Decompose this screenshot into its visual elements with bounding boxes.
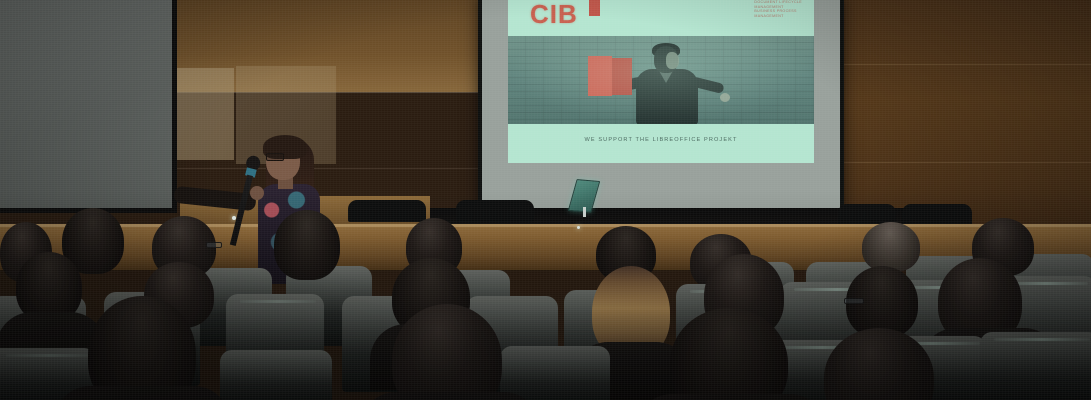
attendee-head-foreground xyxy=(88,296,196,400)
seat-highlight xyxy=(240,300,316,303)
auditorium-seat xyxy=(980,332,1091,400)
cib-logo-square-icon xyxy=(589,0,600,16)
attendee-glasses-icon xyxy=(206,242,222,248)
attendee-glasses-icon xyxy=(844,298,864,304)
wall-light-panel xyxy=(172,68,234,160)
attendee-shoulders xyxy=(54,386,230,400)
slide-corner-tagline: DOCUMENT LIFECYCLE MANAGEMENT BUSINESS P… xyxy=(754,0,802,18)
attendee-shoulders xyxy=(636,394,826,400)
seated-audience xyxy=(0,200,1091,400)
attendee-shoulders xyxy=(360,392,540,400)
presenter-glasses-icon xyxy=(266,153,284,161)
projector-haze xyxy=(508,36,814,124)
slide-footer: WE SUPPORT THE LIBREOFFICE PROJEKT xyxy=(508,124,814,163)
presenter-hand xyxy=(250,186,264,200)
presentation-photo: CIB DOCUMENT LIFECYCLE MANAGEMENT BUSINE… xyxy=(0,0,1091,400)
projected-slide: CIB DOCUMENT LIFECYCLE MANAGEMENT BUSINE… xyxy=(508,0,814,163)
auditorium-seat xyxy=(500,346,610,400)
slide-photo xyxy=(508,36,814,124)
slide-caption: WE SUPPORT THE LIBREOFFICE PROJEKT xyxy=(508,137,814,143)
main-projection-screen: CIB DOCUMENT LIFECYCLE MANAGEMENT BUSINE… xyxy=(478,0,844,220)
blank-projection-screen xyxy=(0,0,177,213)
seat-highlight xyxy=(6,354,94,357)
attendee-head xyxy=(274,210,340,280)
seat-highlight xyxy=(994,338,1090,341)
tagline-line: MANAGEMENT xyxy=(754,14,802,19)
slide-header: CIB DOCUMENT LIFECYCLE MANAGEMENT BUSINE… xyxy=(508,0,814,36)
auditorium-seat xyxy=(220,350,332,400)
cib-logo-text: CIB xyxy=(530,1,578,27)
attendee-head xyxy=(862,222,920,272)
